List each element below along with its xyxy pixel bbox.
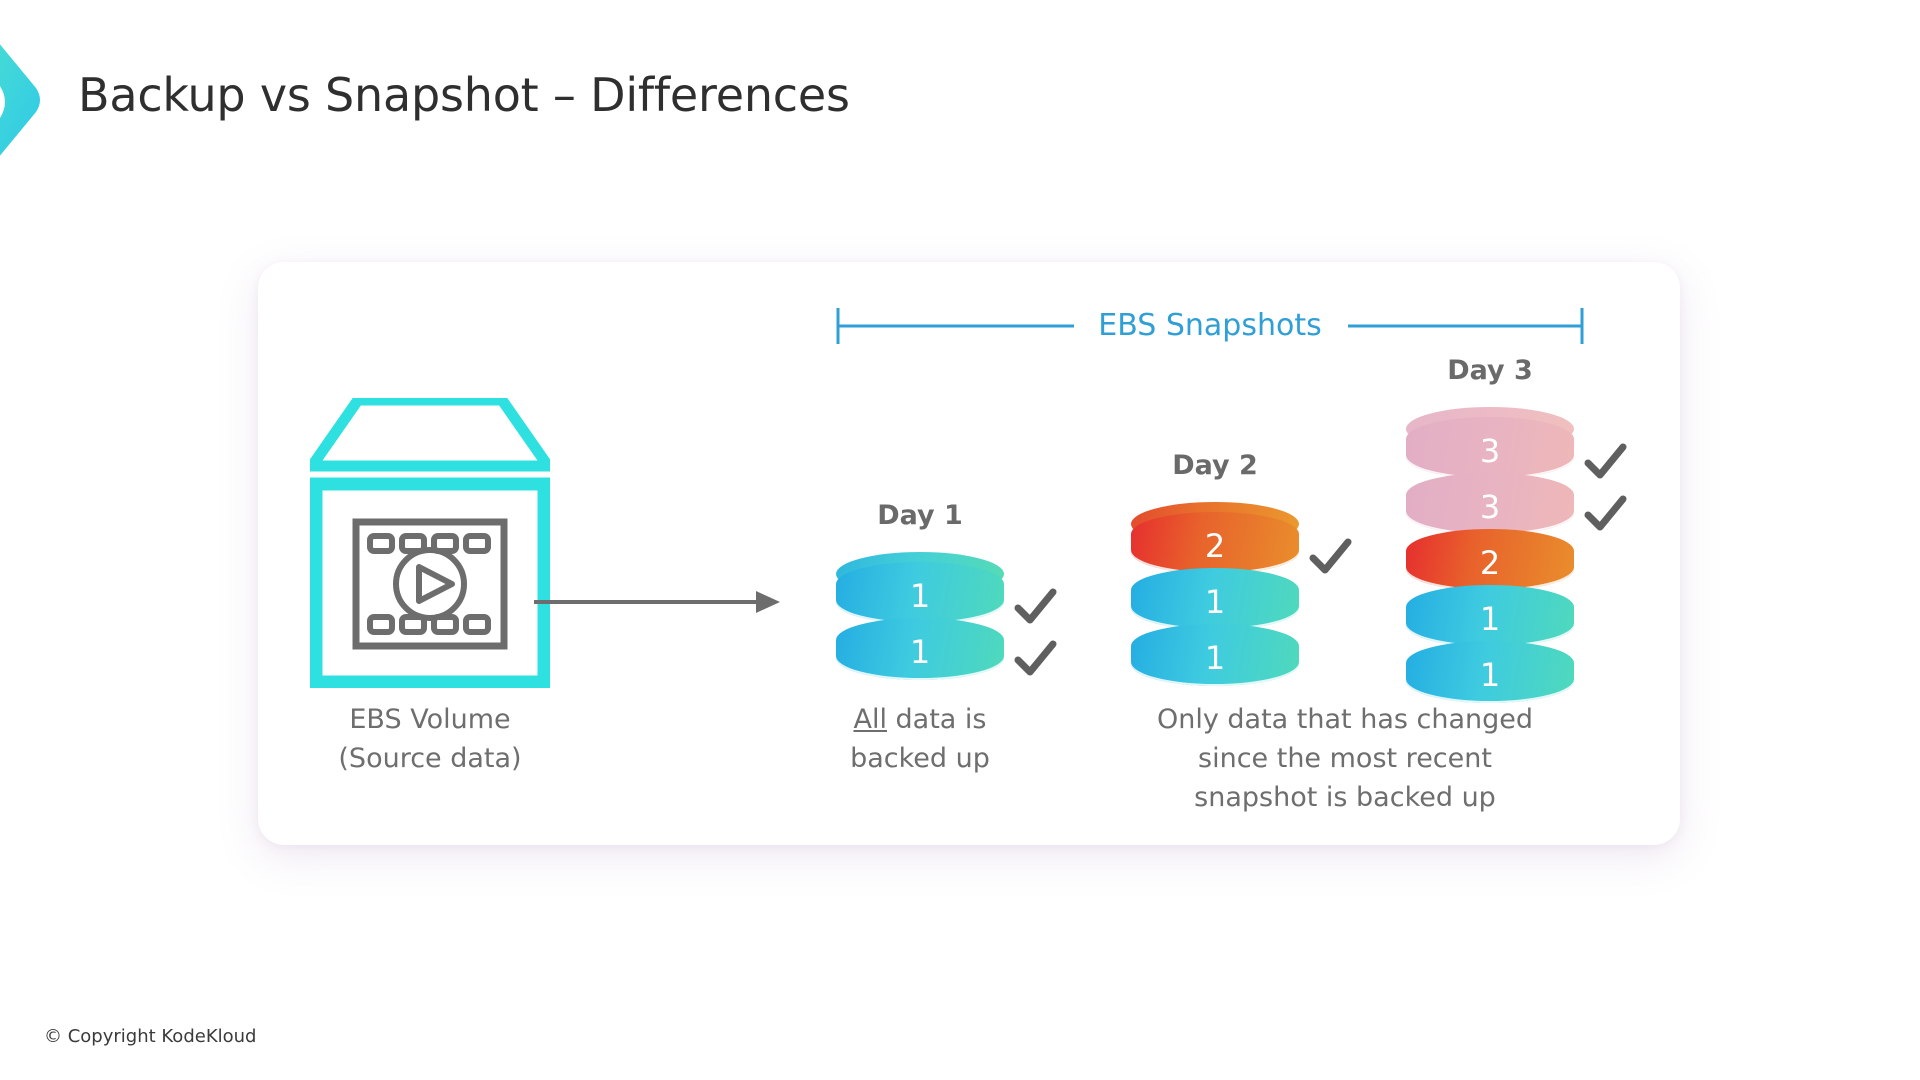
- day-1-label: Day 1: [830, 500, 1010, 531]
- snapshot-caption-line1: Only data that has changed: [1110, 700, 1580, 739]
- day-3-snapshot[interactable]: Day 3 3 3 2 1 1: [1400, 355, 1580, 695]
- day-1-caption-underline: All: [853, 704, 886, 735]
- copyright-footer: © Copyright KodeKloud: [44, 1026, 256, 1047]
- day-1-disc-0: 1: [836, 562, 1004, 624]
- day-3-disc-1-value: 3: [1480, 488, 1500, 526]
- day-1-caption-line1: All data is: [790, 700, 1050, 739]
- page-title: Backup vs Snapshot – Differences: [78, 68, 850, 122]
- day-3-disc-2-value: 2: [1480, 544, 1500, 582]
- day-2-disc-0-value: 2: [1205, 527, 1225, 565]
- day-3-disc-3: 1: [1406, 585, 1574, 647]
- day-2-check-0: [1307, 534, 1353, 580]
- day-3-disc-0-value: 3: [1480, 432, 1500, 470]
- day-2-disc-0: 2: [1131, 512, 1299, 574]
- day-1-snapshot[interactable]: Day 1 1 1: [830, 500, 1010, 690]
- day-2-stack: 2 1 1: [1131, 502, 1299, 694]
- ebs-volume-caption: EBS Volume (Source data): [280, 700, 580, 778]
- ebs-volume-caption-line1: EBS Volume: [280, 700, 580, 739]
- day-3-stack: 3 3 2 1 1: [1406, 407, 1574, 711]
- day-2-label: Day 2: [1125, 450, 1305, 481]
- slide-canvas: Backup vs Snapshot – Differences: [0, 0, 1920, 1080]
- day-2-snapshot[interactable]: Day 2 2 1 1: [1125, 450, 1305, 695]
- day-2-disc-1: 1: [1131, 568, 1299, 630]
- day-3-check-0: [1582, 439, 1628, 485]
- ebs-snapshots-bracket: EBS Snapshots: [836, 300, 1584, 352]
- day-3-check-1: [1582, 491, 1628, 537]
- day-3-disc-3-value: 1: [1480, 600, 1500, 638]
- day-1-stack: 1 1: [836, 552, 1004, 682]
- day-1-disc-0-value: 1: [910, 577, 930, 615]
- brand-chevron-icon: [0, 30, 54, 170]
- flow-arrow-icon: [534, 582, 780, 622]
- ebs-volume-caption-line2: (Source data): [280, 739, 580, 778]
- day-1-check-0: [1012, 584, 1058, 630]
- day-3-disc-2: 2: [1406, 529, 1574, 591]
- day-3-disc-0: 3: [1406, 417, 1574, 479]
- day-1-caption: All data is backed up: [790, 700, 1050, 778]
- day-1-disc-1: 1: [836, 618, 1004, 680]
- day-1-check-1: [1012, 636, 1058, 682]
- day-3-label: Day 3: [1400, 355, 1580, 386]
- snapshot-incremental-caption: Only data that has changed since the mos…: [1110, 700, 1580, 817]
- day-2-disc-1-value: 1: [1205, 583, 1225, 621]
- snapshot-caption-line2: since the most recent: [1110, 739, 1580, 778]
- ebs-volume-icon: [310, 398, 550, 688]
- ebs-snapshots-label: EBS Snapshots: [836, 300, 1584, 352]
- day-3-disc-1: 3: [1406, 473, 1574, 535]
- day-3-disc-4: 1: [1406, 641, 1574, 703]
- day-2-disc-2: 1: [1131, 624, 1299, 686]
- day-1-caption-line2: backed up: [790, 739, 1050, 778]
- snapshot-caption-line3: snapshot is backed up: [1110, 778, 1580, 817]
- day-1-caption-rest: data is: [887, 704, 987, 735]
- day-3-disc-4-value: 1: [1480, 656, 1500, 694]
- day-2-disc-2-value: 1: [1205, 639, 1225, 677]
- day-1-disc-1-value: 1: [910, 633, 930, 671]
